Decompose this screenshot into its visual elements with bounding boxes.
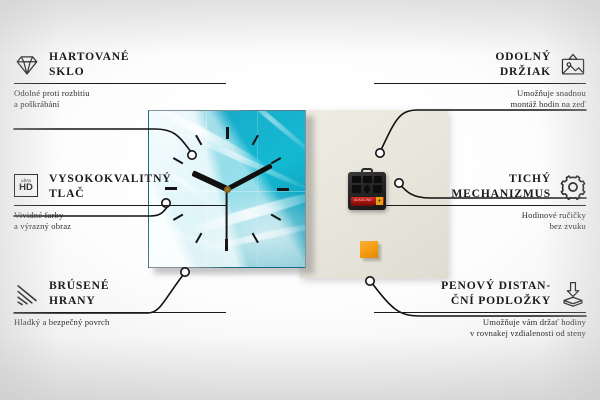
feature-desc-line2: montáž hodin na zeď bbox=[374, 99, 586, 110]
feature-title-line1: TICHÝ bbox=[451, 172, 551, 187]
feature-divider bbox=[14, 205, 226, 206]
feature-silent-mechanism[interactable]: TICHÝ MECHANIZMUS Hodinové ručičky bez z… bbox=[374, 172, 586, 232]
feature-durable-hanger[interactable]: ODOLNÝ DRŽIAK Umožňuje snadnou montáž ho… bbox=[374, 50, 586, 110]
feature-divider bbox=[14, 83, 226, 84]
feature-divider bbox=[374, 83, 586, 84]
gear-icon bbox=[560, 174, 586, 200]
feature-high-quality-print[interactable]: ultraHD VYSOKOKVALITNÝ TLAČ Vividné farb… bbox=[14, 172, 226, 232]
feature-desc-line1: Hodinové ručičky bbox=[374, 210, 586, 221]
feature-title-line1: VYSOKOKVALITNÝ bbox=[49, 172, 171, 187]
feature-title-line2: HRANY bbox=[49, 294, 109, 309]
feature-title-line1: HARTOVANÉ bbox=[49, 50, 129, 65]
feature-foam-spacers[interactable]: PENOVÝ DISTAN- ČNÍ PODLOŽKY Umožňuje vám… bbox=[374, 279, 586, 339]
foam-spacer-pad bbox=[360, 241, 378, 258]
feature-desc-line1: Umožňuje vám držať hodiny bbox=[374, 317, 586, 328]
feature-desc-line1: Vividné farby bbox=[14, 210, 226, 221]
feature-title-line2: TLAČ bbox=[49, 187, 171, 202]
feature-title-line1: BRÚSENÉ bbox=[49, 279, 109, 294]
feature-divider bbox=[374, 312, 586, 313]
diamond-icon bbox=[14, 52, 40, 78]
feature-title-line2: SKLO bbox=[49, 65, 129, 80]
ultra-hd-icon: ultraHD bbox=[14, 174, 40, 200]
feature-title-line2: DRŽIAK bbox=[495, 65, 551, 80]
feature-tempered-glass[interactable]: HARTOVANÉ SKLO Odolné proti rozbitiu a p… bbox=[14, 50, 226, 110]
feature-desc-line1: Hladký a bezpečný povrch bbox=[14, 317, 226, 328]
feature-desc-line2: a poškrábání bbox=[14, 99, 226, 110]
stacked-pads-icon bbox=[560, 281, 586, 307]
feature-desc-line1: Umožňuje snadnou bbox=[374, 88, 586, 99]
feature-desc-line2: v rovnakej vzdialenosti od steny bbox=[374, 328, 586, 339]
feature-title-line2: MECHANIZMUS bbox=[451, 187, 551, 202]
infographic-canvas: ALKALINE + bbox=[0, 0, 600, 400]
feature-divider bbox=[374, 205, 586, 206]
polished-edges-icon bbox=[14, 281, 40, 307]
clock-tick bbox=[227, 188, 289, 190]
feature-title-line1: ODOLNÝ bbox=[495, 50, 551, 65]
feature-desc-line2: bez zvuku bbox=[374, 221, 586, 232]
feature-polished-edges[interactable]: BRÚSENÉ HRANY Hladký a bezpečný povrch bbox=[14, 279, 226, 328]
feature-desc-line2: a výrazný obraz bbox=[14, 221, 226, 232]
feature-title-line2: ČNÍ PODLOŽKY bbox=[441, 294, 551, 309]
feature-desc-line1: Odolné proti rozbitiu bbox=[14, 88, 226, 99]
feature-divider bbox=[14, 312, 226, 313]
clock-second-hand bbox=[226, 189, 228, 247]
picture-frame-icon bbox=[560, 52, 586, 78]
feature-title-line1: PENOVÝ DISTAN- bbox=[441, 279, 551, 294]
clock-tick bbox=[226, 127, 228, 189]
battery-label: ALKALINE bbox=[354, 198, 372, 202]
